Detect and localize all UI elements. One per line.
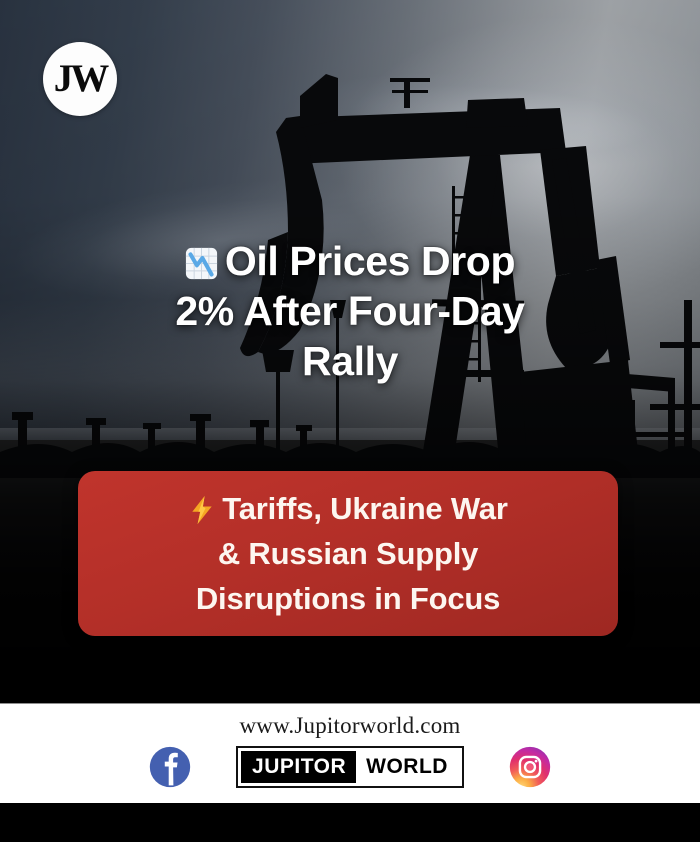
banner-text: Tariffs, Ukraine War & Russian Supply Di… <box>172 486 523 621</box>
headline-text: Oil Prices Drop 2% After Four-Day Rally <box>46 236 654 386</box>
banner-line-1: Tariffs, Ukraine War <box>188 491 507 526</box>
brand-word-world: WORLD <box>356 751 459 783</box>
instagram-link[interactable] <box>508 745 552 789</box>
instagram-icon[interactable] <box>508 745 552 789</box>
website-url[interactable]: www.Jupitorworld.com <box>0 704 700 739</box>
facebook-icon[interactable] <box>148 745 192 789</box>
footer-social-row: JUPITOR WORLD <box>0 745 700 789</box>
brand-logo-badge[interactable]: JW <box>43 42 117 116</box>
jw-monogram-icon: JW <box>54 59 107 98</box>
brand-word-jupitor: JUPITOR <box>241 751 356 783</box>
facebook-link[interactable] <box>148 745 192 789</box>
headline-line-2: 2% After Four-Day <box>175 288 524 334</box>
chart-decreasing-emoji <box>185 247 218 280</box>
banner-line-3: Disruptions in Focus <box>196 581 500 616</box>
social-media-poster: JW Oil Prices Drop 2% After Four-Day Ral… <box>0 0 700 842</box>
subheadline-banner: Tariffs, Ukraine War & Russian Supply Di… <box>78 471 618 636</box>
bottom-black-bar <box>0 803 700 842</box>
headline-line-3: Rally <box>302 338 398 384</box>
brand-wordmark[interactable]: JUPITOR WORLD <box>236 746 464 788</box>
high-voltage-emoji <box>188 495 216 525</box>
footer-bar: www.Jupitorworld.com JUPITOR WORLD <box>0 703 700 803</box>
banner-line-2: & Russian Supply <box>218 536 478 571</box>
headline-line-1: Oil Prices Drop <box>185 238 515 284</box>
